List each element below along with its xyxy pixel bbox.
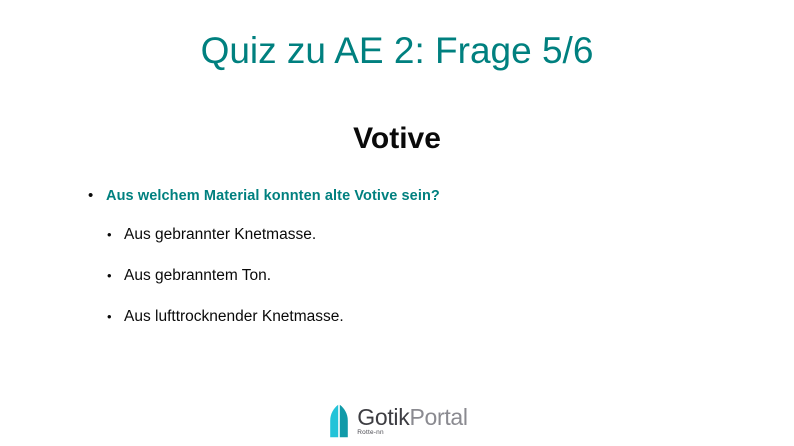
answer-option-label: Aus gebranntem Ton.	[124, 265, 700, 287]
answer-option-label: Aus gebrannter Knetmasse.	[124, 224, 700, 246]
logo-tagline: Rotte-nn	[357, 429, 467, 437]
answer-option-2[interactable]: • Aus gebranntem Ton.	[107, 265, 700, 287]
answer-option-label: Aus lufttrocknender Knetmasse.	[124, 306, 700, 328]
slide-body-list: • Aus welchem Material konnten alte Voti…	[0, 186, 700, 347]
slide-subtitle: Votive	[0, 122, 794, 157]
presentation-slide: Quiz zu AE 2: Frage 5/6 Votive • Aus wel…	[0, 0, 794, 446]
gotikportal-logo: GotikPortal Rotte-nn	[0, 404, 794, 438]
question-bullet-item: • Aus welchem Material konnten alte Voti…	[88, 186, 700, 206]
answer-option-1[interactable]: • Aus gebrannter Knetmasse.	[107, 224, 700, 246]
logo-wordmark: GotikPortal	[357, 405, 467, 429]
bullet-dot-icon: •	[107, 224, 124, 246]
logo-word-gotik: Gotik	[357, 404, 409, 430]
answer-option-3[interactable]: • Aus lufttrocknender Knetmasse.	[107, 306, 700, 328]
logo-word-portal: Portal	[409, 404, 467, 430]
question-text: Aus welchem Material konnten alte Votive…	[106, 186, 700, 206]
gothic-arch-logo-icon	[326, 404, 352, 438]
bullet-dot-icon: •	[88, 186, 106, 206]
bullet-dot-icon: •	[107, 306, 124, 328]
bullet-dot-icon: •	[107, 265, 124, 287]
slide-title: Quiz zu AE 2: Frage 5/6	[0, 30, 794, 73]
